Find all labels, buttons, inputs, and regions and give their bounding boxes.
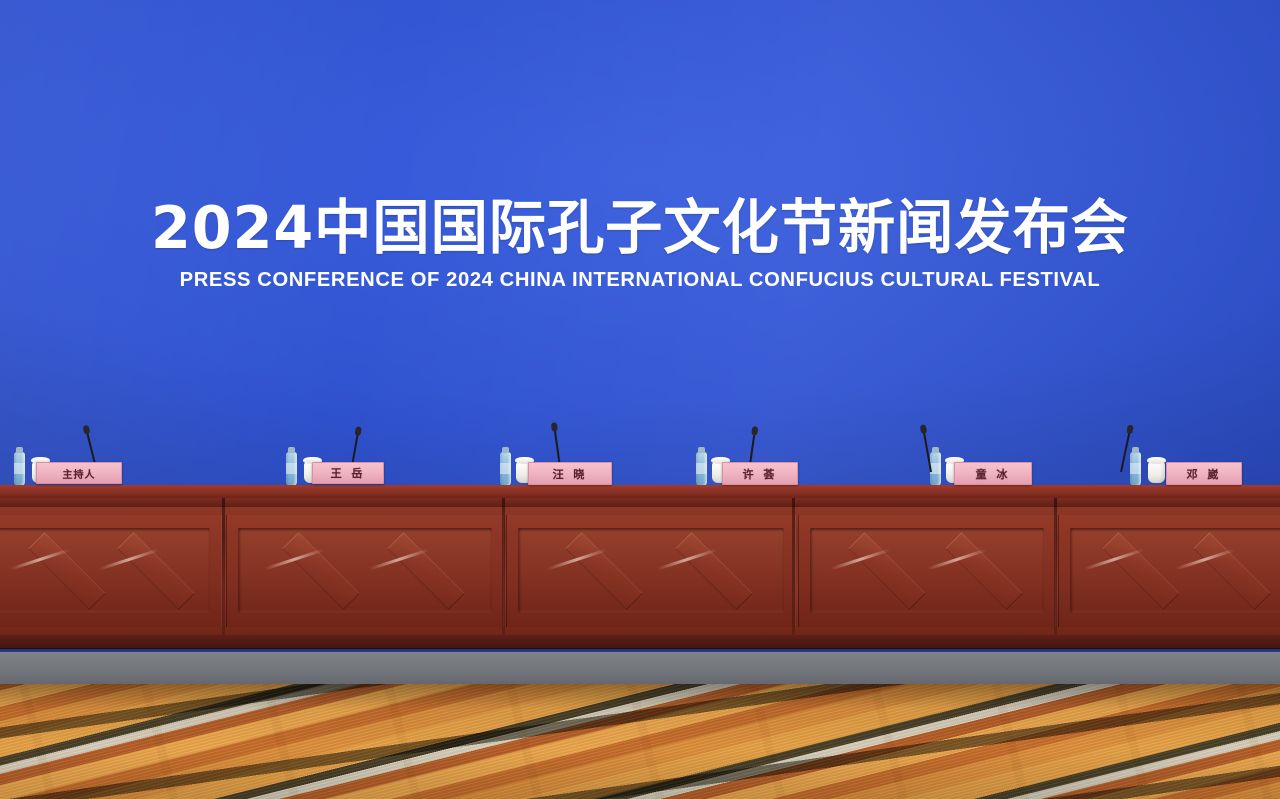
floor-riser (0, 652, 1280, 686)
podium-panel (1058, 515, 1280, 627)
diamond-relief-icon (118, 532, 195, 609)
diamond-relief-icon (946, 532, 1023, 609)
podium-panel-inset (238, 528, 492, 613)
diamond-relief-face (1193, 532, 1270, 609)
backdrop-sheen (0, 0, 1280, 500)
water-bottle (286, 452, 297, 486)
diamond-relief-icon (675, 532, 752, 609)
backdrop-vignette (0, 0, 1280, 500)
podium-base-moulding (0, 635, 1280, 649)
podium-top-band (0, 485, 1280, 498)
podium-section-seam (502, 498, 505, 638)
podium-section-seam (1054, 498, 1057, 638)
diamond-relief-face (848, 532, 925, 609)
podium-panel (506, 515, 796, 627)
podium-section-seam (792, 498, 795, 638)
carpet-shading (0, 684, 1280, 799)
water-bottle (1130, 452, 1141, 486)
water-bottle (696, 452, 707, 486)
diamond-relief-icon (1193, 532, 1270, 609)
nameplate: 许 荟 (722, 462, 798, 485)
water-bottle (500, 452, 511, 486)
diamond-relief-face (1103, 532, 1180, 609)
tea-cup (1148, 462, 1165, 483)
podium-panel (798, 515, 1056, 627)
diamond-relief-icon (28, 532, 105, 609)
diamond-relief-face (28, 532, 105, 609)
water-bottle (14, 452, 25, 486)
press-conference-photo: 2024中国国际孔子文化节新闻发布会 PRESS CONFERENCE OF 2… (0, 0, 1280, 799)
podium-panel (0, 515, 222, 627)
nameplate: 主持人 (36, 462, 122, 484)
diamond-relief-face (118, 532, 195, 609)
diamond-relief-icon (387, 532, 464, 609)
podium-panel-inset (0, 528, 210, 613)
podium-panel-inset (518, 528, 784, 613)
podium-section-seam (222, 498, 225, 638)
stage-backdrop (0, 0, 1280, 500)
diamond-relief-face (282, 532, 359, 609)
podium-panel-inset (810, 528, 1044, 613)
nameplate: 童 冰 (954, 462, 1032, 485)
podium-lip (0, 498, 1280, 507)
diamond-relief-face (387, 532, 464, 609)
diamond-relief-icon (1103, 532, 1180, 609)
diamond-relief-icon (848, 532, 925, 609)
diamond-relief-face (946, 532, 1023, 609)
nameplate: 汪 晓 (528, 462, 612, 485)
podium-panel-inset (1070, 528, 1280, 613)
podium-panel (226, 515, 504, 627)
diamond-relief-icon (566, 532, 643, 609)
diamond-relief-icon (282, 532, 359, 609)
patterned-carpet (0, 684, 1280, 799)
diamond-relief-face (566, 532, 643, 609)
nameplate: 邓 崴 (1166, 462, 1242, 485)
nameplate: 王 岳 (312, 462, 384, 484)
podium-desk (0, 485, 1280, 661)
diamond-relief-face (675, 532, 752, 609)
